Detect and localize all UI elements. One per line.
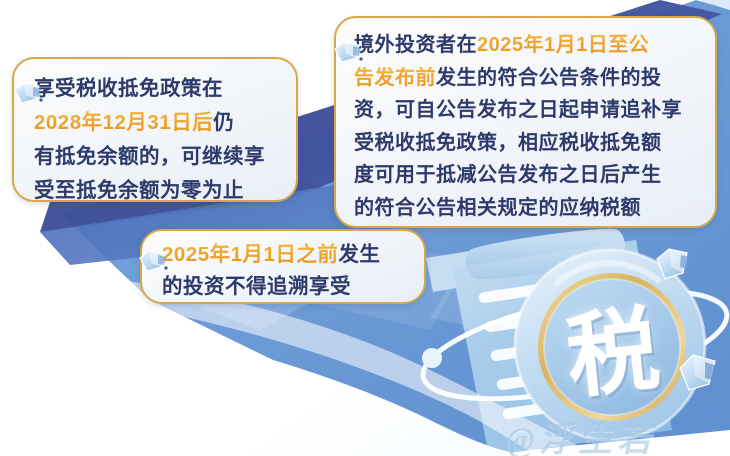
body-text: 发生 bbox=[338, 243, 380, 266]
text-line: 的投资不得追溯享受 bbox=[162, 271, 410, 303]
text-line: 的符合公告相关规定的应纳税额 bbox=[354, 192, 701, 225]
text-line: 2025年1月1日之前发生 bbox=[162, 239, 410, 271]
infographic-canvas: 税 享受税收抵免政策在2028年12月31日后仍有抵免余额的，可继续享受至抵免余… bbox=[0, 0, 730, 456]
text-line: 受税收抵免政策，相应税收抵免额 bbox=[354, 127, 701, 160]
body-text: 发生的符合公告条件的投 bbox=[436, 67, 662, 89]
text-line: 告发布前发生的符合公告条件的投 bbox=[354, 62, 701, 95]
highlighted-date: 2025年1月1日之前 bbox=[162, 243, 338, 266]
text-line: 受至抵免余额为零为止 bbox=[34, 174, 280, 208]
body-text: 度可用于抵减公告发布之日后产生 bbox=[354, 164, 662, 186]
policy-card-1: 享受税收抵免政策在2028年12月31日后仍有抵免余额的，可继续享受至抵免余额为… bbox=[12, 57, 298, 202]
text-line: 境外投资者在2025年1月1日至公 bbox=[354, 29, 701, 62]
policy-card-2: 境外投资者在2025年1月1日至公告发布前发生的符合公告条件的投资，可自公告发布… bbox=[334, 16, 717, 228]
body-text: 受至抵免余额为零为止 bbox=[34, 179, 244, 202]
body-text: 享受税收抵免政策在 bbox=[34, 77, 223, 100]
highlighted-date: 2025年1月1日至公 bbox=[477, 34, 649, 56]
body-text: 的投资不得追溯享受 bbox=[162, 275, 351, 298]
highlighted-date: 告发布前 bbox=[354, 67, 436, 89]
text-line: 享受税收抵免政策在 bbox=[34, 72, 280, 106]
policy-card-3: 2025年1月1日之前发生的投资不得追溯享受 bbox=[140, 229, 426, 304]
policy-card-3-text: 2025年1月1日之前发生的投资不得追溯享受 bbox=[162, 239, 410, 303]
watermark: @浮生若 bbox=[506, 412, 656, 456]
orbit-node bbox=[422, 348, 442, 368]
highlighted-date: 2028年12月31日后 bbox=[34, 111, 213, 134]
policy-card-1-text: 享受税收抵免政策在2028年12月31日后仍有抵免余额的，可继续享受至抵免余额为… bbox=[34, 72, 280, 208]
text-line: 资，可自公告发布之日起申请追补享 bbox=[354, 94, 701, 127]
body-text: 境外投资者在 bbox=[354, 34, 477, 56]
policy-card-2-text: 境外投资者在2025年1月1日至公告发布前发生的符合公告条件的投资，可自公告发布… bbox=[354, 29, 701, 224]
body-text: 有抵免余额的，可继续享 bbox=[34, 145, 265, 168]
text-line: 有抵免余额的，可继续享 bbox=[34, 140, 280, 174]
body-text: 仍 bbox=[213, 111, 234, 134]
tax-seal-character: 税 bbox=[547, 276, 678, 414]
body-text: 的符合公告相关规定的应纳税额 bbox=[354, 197, 641, 219]
text-line: 2028年12月31日后仍 bbox=[34, 106, 280, 140]
body-text: 受税收抵免政策，相应税收抵免额 bbox=[354, 132, 662, 154]
text-line: 度可用于抵减公告发布之日后产生 bbox=[354, 159, 701, 192]
body-text: 资，可自公告发布之日起申请追补享 bbox=[354, 99, 682, 121]
